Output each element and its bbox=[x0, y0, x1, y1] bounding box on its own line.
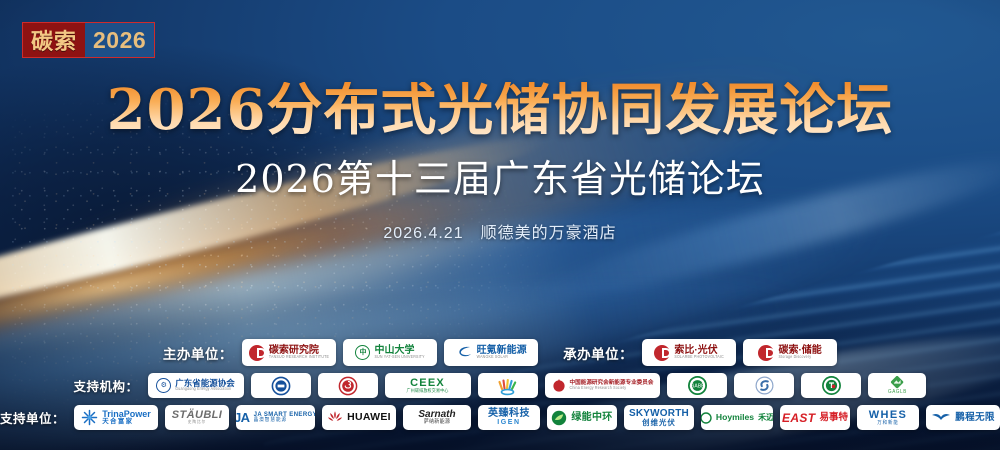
logo-text-cn: 万和新能 bbox=[877, 421, 899, 426]
forum-subtitle: 2026第十三届广东省光储论坛 bbox=[0, 160, 1000, 198]
logo-text-sub: 史陶比尔 bbox=[188, 421, 206, 425]
association-emblem-icon: ⚙ bbox=[156, 378, 171, 393]
leaf-circle-icon bbox=[551, 410, 567, 426]
label-main-organizer: 主办单位： bbox=[163, 343, 233, 363]
green-seal-icon bbox=[821, 375, 842, 396]
c-mark-icon bbox=[249, 345, 265, 361]
logo-whes[interactable]: WHES 万和新能 bbox=[857, 405, 919, 430]
logo-text-cn: 易事特 bbox=[820, 413, 849, 423]
logo-huawei[interactable]: HUAWEI bbox=[322, 405, 396, 430]
logo-trinapower[interactable]: TrinaPower 天合富家 bbox=[74, 405, 158, 430]
logo-new-energy-research-institute[interactable]: 中国能源研究会新能源专业委员会 China Energy Research So… bbox=[545, 373, 661, 398]
logo-ceex-guangzhou-energy-exchange[interactable]: CEEX 广州碳排放权交易中心 bbox=[385, 373, 471, 398]
logo-red-institution-seal[interactable] bbox=[318, 373, 378, 398]
swoosh-icon bbox=[456, 345, 473, 360]
logo-text-en: Guangdong Energy Association bbox=[175, 388, 235, 392]
logo-text-cn: 广州碳排放权交易中心 bbox=[407, 389, 449, 394]
logo-energy-society[interactable] bbox=[251, 373, 311, 398]
logo-text-cn: 天合富家 bbox=[102, 419, 151, 426]
row-supporting-units: 支持单位： bbox=[0, 405, 1000, 430]
logo-text-cn: 创维光伏 bbox=[642, 419, 676, 427]
logo-colorful-burst-institution[interactable] bbox=[478, 373, 538, 398]
logo-sun-yat-sen-university[interactable]: 中 中山大学 SUN YAT-SEN UNIVERSITY bbox=[343, 339, 437, 366]
forum-date-venue: 2026.4.21 顺德美的万豪酒店 bbox=[0, 219, 1000, 243]
logo-text-en: SOLARBE PHOTOVOLTAIC bbox=[674, 355, 724, 359]
green-gear-icon: GABE bbox=[687, 375, 708, 396]
label-co-organizer: 承办单位： bbox=[563, 343, 633, 363]
logo-text-cn: 萨纳新能源 bbox=[424, 420, 451, 426]
wing-icon bbox=[931, 411, 951, 424]
forum-banner: 碳索 2026 2026分布式光储协同发展论坛 2026第十三届广东省光储论坛 … bbox=[0, 0, 1000, 450]
row-organizers: 主办单位： 碳索研究院 TANSUO RESEARCH INSTITUTE 中 bbox=[0, 339, 1000, 366]
logo-staubli[interactable]: STÄUBLI 史陶比尔 bbox=[165, 405, 229, 430]
logo-text-cn: 绿能中环 bbox=[571, 413, 612, 423]
red-seal-icon bbox=[338, 376, 358, 396]
logo-igen[interactable]: 英臻科技 IGEN bbox=[478, 405, 540, 430]
svg-text:GABE: GABE bbox=[691, 384, 706, 390]
brand-logo-year: 2026 bbox=[85, 23, 154, 57]
logo-skyworth[interactable]: SKYWORTH 创维光伏 bbox=[624, 405, 694, 430]
logo-text-en: GAGLB bbox=[888, 390, 907, 395]
logo-text-en: Storage Discovery bbox=[778, 355, 821, 359]
logo-tansuo-storage[interactable]: 碳索·储能 Storage Discovery bbox=[743, 339, 837, 366]
logo-text-en: IGEN bbox=[497, 419, 521, 426]
logo-text-en: HUAWEI bbox=[347, 412, 391, 423]
brand-logo-cn: 碳索 bbox=[23, 23, 85, 57]
logo-gabe-green-alliance[interactable]: GABE bbox=[667, 373, 727, 398]
logo-text-en: China Energy Research Society bbox=[570, 386, 654, 390]
logo-text-en: EAST bbox=[782, 412, 816, 424]
logo-solarbe-photovoltaic[interactable]: 索比·光伏 SOLARBE PHOTOVOLTAIC bbox=[642, 339, 736, 366]
logo-mark-text: JA bbox=[236, 411, 250, 424]
logo-east[interactable]: EAST 易事特 bbox=[780, 405, 850, 430]
logo-hoymiles[interactable]: Hoymiles 禾迈 bbox=[701, 405, 773, 430]
snowflake-icon bbox=[81, 409, 98, 426]
label-supporting-institutions: 支持机构： bbox=[74, 376, 139, 395]
logo-sarnath[interactable]: Sarnath 萨纳新能源 bbox=[403, 405, 471, 430]
logo-tansuo-research-institute[interactable]: 碳索研究院 TANSUO RESEARCH INSTITUTE bbox=[242, 339, 336, 366]
logo-text-cn: 禾迈 bbox=[758, 414, 773, 422]
logo-gaglb[interactable]: GAGLB bbox=[868, 373, 926, 398]
logo-text-cn: 鹏程无限 bbox=[955, 413, 995, 423]
brand-logo: 碳索 2026 bbox=[22, 22, 155, 58]
logo-text-en: Hoymiles bbox=[716, 413, 754, 422]
blue-seal-icon bbox=[271, 376, 291, 396]
logo-lvneng-zhonghuan[interactable]: 绿能中环 bbox=[547, 405, 617, 430]
logo-ja-smart-energy[interactable]: JA JA SMART ENERGY 晶澳智慧能源 bbox=[236, 405, 315, 430]
logo-wangke-solar[interactable]: 旺氪新能源 WANGKE SOLAR bbox=[444, 339, 538, 366]
group-main-organizer: 主办单位： 碳索研究院 TANSUO RESEARCH INSTITUTE 中 bbox=[163, 339, 538, 366]
sponsor-rows: 主办单位： 碳索研究院 TANSUO RESEARCH INSTITUTE 中 bbox=[0, 339, 1000, 430]
logo-text-en: SUN YAT-SEN UNIVERSITY bbox=[374, 355, 424, 359]
forum-title: 2026分布式光储协同发展论坛 bbox=[0, 82, 1000, 138]
row-supporting-institutions: 支持机构： ⚙ 广东省能源协会 Guangdong Energy Associa… bbox=[0, 373, 1000, 398]
logo-text-cn: 英臻科技 bbox=[488, 409, 530, 419]
group-co-organizer: 承办单位： 索比·光伏 SOLARBE PHOTOVOLTAIC bbox=[563, 339, 837, 366]
huawei-petal-icon bbox=[327, 410, 343, 425]
label-supporting-units: 支持单位： bbox=[0, 408, 65, 427]
burst-icon bbox=[496, 376, 520, 396]
recycle-icon bbox=[754, 375, 775, 396]
hoymiles-ring-icon bbox=[701, 412, 712, 424]
university-seal-icon: 中 bbox=[355, 345, 370, 360]
c-mark-icon bbox=[758, 345, 774, 361]
red-emblem-icon bbox=[552, 379, 566, 393]
logo-guangdong-energy-association[interactable]: ⚙ 广东省能源协会 Guangdong Energy Association bbox=[148, 373, 244, 398]
logo-text-en: TANSUO RESEARCH INSTITUTE bbox=[269, 355, 329, 359]
logo-text-en: WANGKE SOLAR bbox=[477, 355, 527, 359]
c-mark-icon bbox=[654, 345, 670, 361]
logo-blue-recycle-institution[interactable] bbox=[734, 373, 794, 398]
logo-text-cn: 晶澳智慧能源 bbox=[254, 418, 315, 423]
logo-pengcheng-wuxian[interactable]: 鹏程无限 bbox=[926, 405, 1000, 430]
logo-green-five-ring-institution[interactable] bbox=[801, 373, 861, 398]
